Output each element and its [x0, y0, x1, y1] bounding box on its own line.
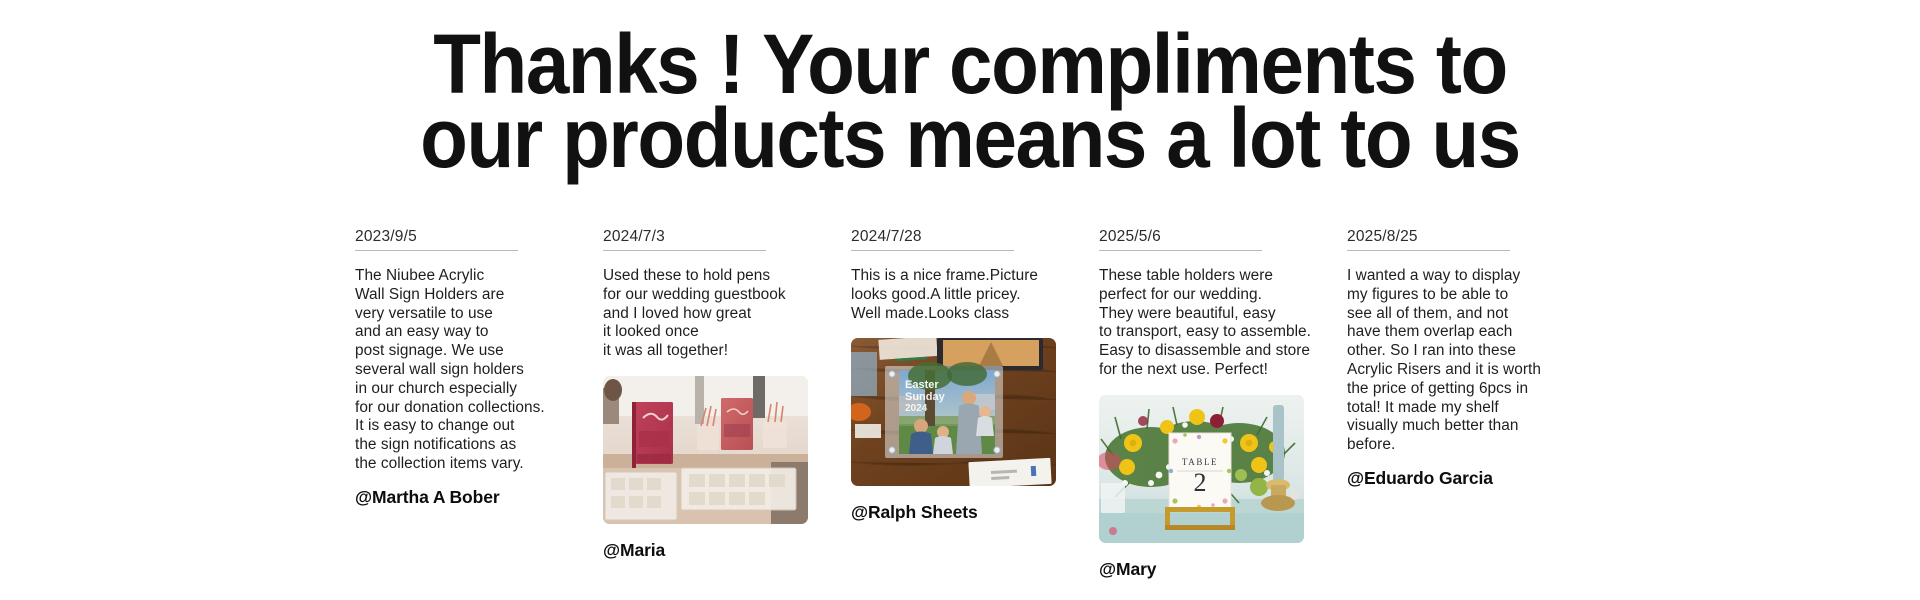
review-card-3: 2024/7/28 This is a nice frame.Picture l…: [851, 228, 1099, 523]
reviews-row: 2023/9/5 The Niubee Acrylic Wall Sign Ho…: [355, 228, 1595, 579]
date-divider: [851, 250, 1014, 251]
review-card-1: 2023/9/5 The Niubee Acrylic Wall Sign Ho…: [355, 228, 603, 507]
review-body: These table holders were perfect for our…: [1099, 267, 1329, 380]
date-divider: [1099, 250, 1262, 251]
review-card-4: 2025/5/6 These table holders were perfec…: [1099, 228, 1347, 579]
review-photo-maria[interactable]: [603, 376, 808, 524]
floral-table-number-icon: TABLE 2: [1099, 395, 1304, 543]
review-author: @Ralph Sheets: [851, 503, 1081, 522]
svg-text:2024: 2024: [905, 403, 928, 414]
review-photo-ralph[interactable]: Easter Sunday 2024: [851, 338, 1056, 486]
review-photo-mary[interactable]: TABLE 2: [1099, 395, 1304, 543]
page-title: Thanks ! Your compliments to our product…: [355, 28, 1585, 176]
compliments-banner: Thanks ! Your compliments to our product…: [0, 0, 1920, 600]
svg-text:Easter: Easter: [905, 379, 939, 391]
review-card-5: 2025/8/25 I wanted a way to display my f…: [1347, 228, 1595, 488]
review-date: 2025/5/6: [1099, 228, 1329, 250]
review-card-2: 2024/7/3 Used these to hold pens for our…: [603, 228, 851, 560]
svg-text:TABLE: TABLE: [1182, 457, 1218, 467]
date-divider: [1347, 250, 1510, 251]
page-title-line-2: our products means a lot to us: [398, 102, 1542, 176]
review-date: 2023/9/5: [355, 228, 585, 250]
review-date: 2025/8/25: [1347, 228, 1577, 250]
date-divider: [355, 250, 518, 251]
review-author: @Martha A Bober: [355, 488, 585, 507]
wedding-table-photo-icon: [603, 376, 808, 524]
review-date: 2024/7/3: [603, 228, 833, 250]
review-body: I wanted a way to display my figures to …: [1347, 267, 1577, 455]
review-date: 2024/7/28: [851, 228, 1081, 250]
acrylic-photo-frame-icon: Easter Sunday 2024: [851, 338, 1056, 486]
date-divider: [603, 250, 766, 251]
review-author: @Eduardo Garcia: [1347, 469, 1577, 488]
review-body: This is a nice frame.Picture looks good.…: [851, 267, 1081, 323]
review-body: The Niubee Acrylic Wall Sign Holders are…: [355, 267, 585, 474]
review-author: @Mary: [1099, 560, 1329, 579]
review-body: Used these to hold pens for our wedding …: [603, 267, 833, 361]
review-author: @Maria: [603, 541, 833, 560]
svg-text:2: 2: [1194, 468, 1207, 497]
svg-text:Sunday: Sunday: [905, 391, 946, 403]
